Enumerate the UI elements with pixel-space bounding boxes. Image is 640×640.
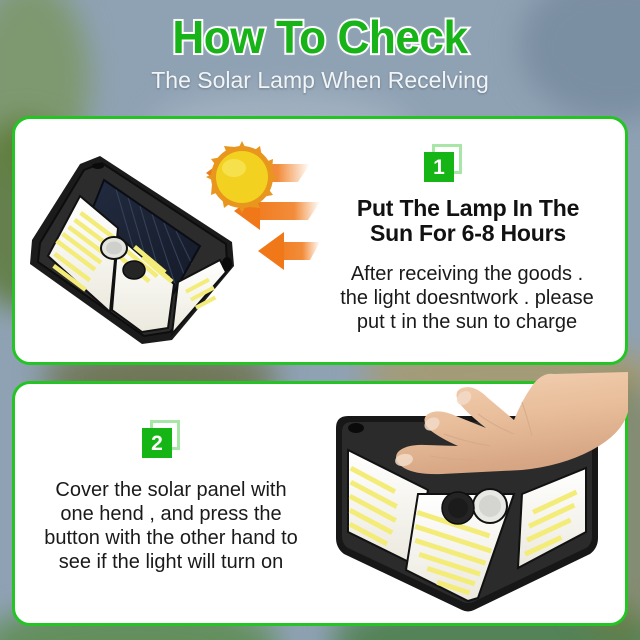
step-2-body-line-3: button with the other hand to [6,526,336,550]
step-badge-2: 2 [140,420,186,462]
step-2-body-line-2: one hend , and press the [6,502,336,526]
page-subtitle: The Solar Lamp When Recelving [0,60,640,92]
step-1-body-line-2: the light doesntwork . please [294,286,640,310]
step-1-heading-line-1: Put The Lamp In The [300,196,636,221]
step-1-heading-line-2: Sun For 6-8 Hours [300,221,636,246]
header: How To Check The Solar Lamp When Recelvi… [0,0,640,116]
step-1-heading: Put The Lamp In The Sun For 6-8 Hours [300,196,636,246]
badge-number: 2 [142,428,172,458]
mount-hole [348,423,364,433]
badge-number: 1 [424,152,454,182]
step-1-body-line-3: put t in the sun to charge [294,310,640,334]
page-title: How To Check [13,0,627,60]
step-1-body-line-1: After receiving the goods . [294,262,640,286]
mount-hole [92,163,104,169]
step-1-body: After receiving the goods . the light do… [294,262,640,334]
step-2-body-line-4: see if the light will turn on [6,550,336,574]
step-badge-1: 1 [422,144,468,186]
hand-covering-solar-panel [382,372,632,522]
infographic-stage: How To Check The Solar Lamp When Recelvi… [0,0,640,640]
step-2-body-line-1: Cover the solar panel with [6,478,336,502]
hand-shape [394,372,628,474]
sun-icon [206,141,278,213]
step-2-body: Cover the solar panel with one hend , an… [6,478,336,574]
